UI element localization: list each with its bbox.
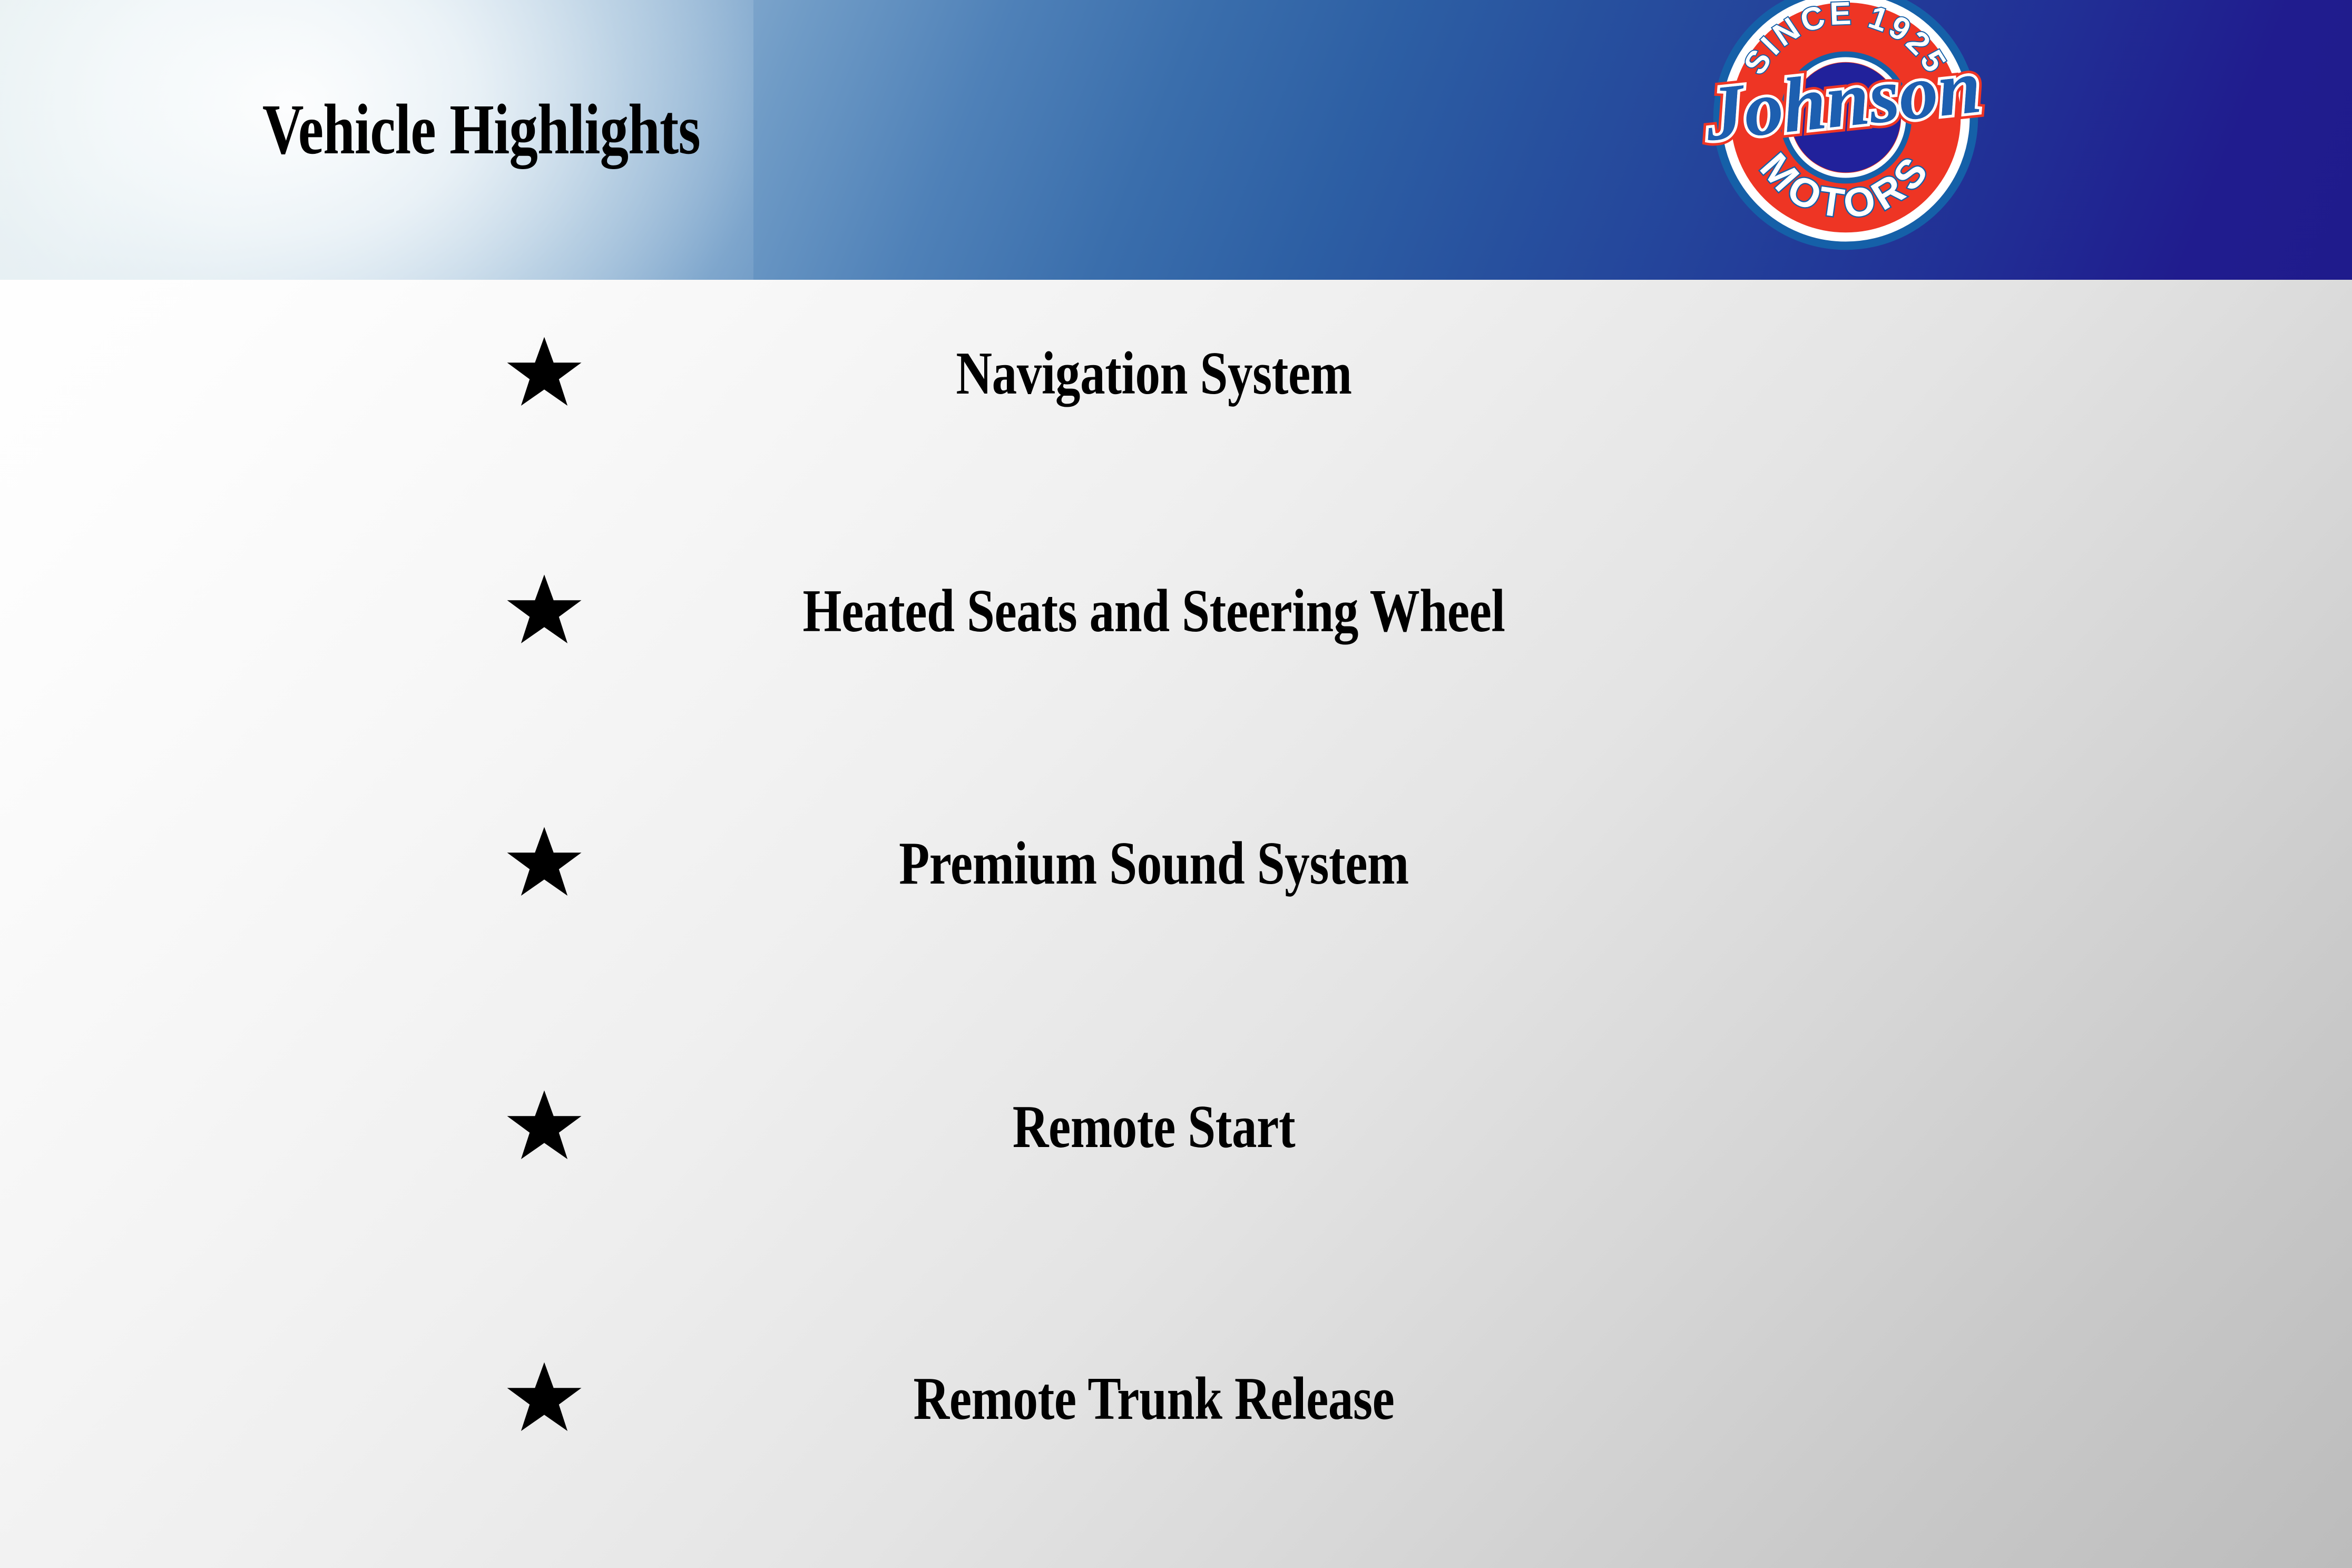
vehicle-highlights-list: Navigation System Heated Seats and Steer… (0, 280, 2352, 1568)
bullet-marker-cell (0, 825, 601, 904)
list-item: Heated Seats and Steering Wheel (0, 572, 1707, 651)
star-icon (505, 1360, 584, 1439)
star-icon (505, 335, 584, 414)
list-item: Remote Trunk Release (0, 1360, 1707, 1439)
slide-canvas: Vehicle Highlights SINCE 1925 (0, 0, 2352, 1568)
bullet-marker-cell (0, 1360, 601, 1439)
star-icon (505, 1088, 584, 1167)
list-item: Navigation System (0, 335, 1707, 414)
johnson-motors-logo: SINCE 1925 MOTORS Johnson Johnson Johnso… (1690, 0, 2001, 273)
page-title: Vehicle Highlights (262, 94, 700, 165)
list-item: Premium Sound System (0, 825, 1707, 904)
list-item-label: Remote Start (700, 1090, 1608, 1165)
list-item-label: Navigation System (700, 337, 1608, 411)
list-item: Remote Start (0, 1088, 1707, 1167)
star-icon (505, 825, 584, 904)
bullet-marker-cell (0, 572, 601, 651)
list-item-label: Heated Seats and Steering Wheel (700, 574, 1608, 649)
list-item-label: Remote Trunk Release (700, 1362, 1608, 1437)
list-item-label: Premium Sound System (700, 827, 1608, 901)
bullet-marker-cell (0, 335, 601, 414)
star-icon (505, 572, 584, 651)
bullet-marker-cell (0, 1088, 601, 1167)
